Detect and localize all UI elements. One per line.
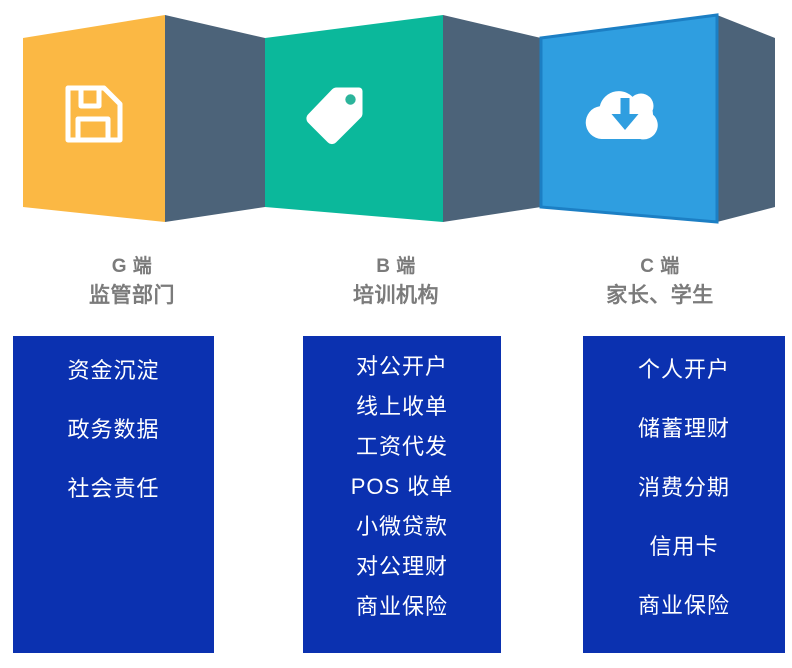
heading-sub-c: 家长、学生 bbox=[528, 281, 792, 311]
service-box-b: 对公开户 线上收单 工资代发 POS 收单 小微贷款 对公理财 商业保险 bbox=[303, 336, 501, 653]
service-item: 社会责任 bbox=[13, 471, 214, 507]
service-item: 资金沉淀 bbox=[13, 353, 214, 389]
heading-main-g: G 端 bbox=[0, 253, 264, 281]
heading-column-c: C 端 家长、学生 bbox=[528, 253, 792, 331]
service-box-g: 资金沉淀 政务数据 社会责任 bbox=[13, 336, 214, 653]
panel-band bbox=[0, 0, 792, 245]
service-item: 消费分期 bbox=[583, 470, 785, 506]
service-item: 小微贷款 bbox=[303, 509, 501, 545]
service-item: 线上收单 bbox=[303, 389, 501, 425]
panel-side-face-b-c bbox=[443, 15, 541, 222]
heading-row: G 端 监管部门 B 端 培训机构 C 端 家长、学生 bbox=[0, 253, 792, 331]
panel-side-face-g-b bbox=[165, 15, 265, 222]
heading-main-b: B 端 bbox=[264, 253, 528, 281]
heading-sub-b: 培训机构 bbox=[264, 281, 528, 311]
service-item: 政务数据 bbox=[13, 412, 214, 448]
service-item: 信用卡 bbox=[583, 529, 785, 565]
service-item: 工资代发 bbox=[303, 429, 501, 465]
service-item: 个人开户 bbox=[583, 352, 785, 388]
service-item: 储蓄理财 bbox=[583, 411, 785, 447]
heading-main-c: C 端 bbox=[528, 253, 792, 281]
panel-side-face-c-right bbox=[717, 15, 775, 222]
service-item: POS 收单 bbox=[303, 469, 501, 505]
service-box-c: 个人开户 储蓄理财 消费分期 信用卡 商业保险 bbox=[583, 336, 785, 653]
heading-sub-g: 监管部门 bbox=[0, 281, 264, 311]
service-item: 对公开户 bbox=[303, 349, 501, 385]
service-item: 商业保险 bbox=[583, 588, 785, 624]
diagram-canvas: G 端 监管部门 B 端 培训机构 C 端 家长、学生 资金沉淀 政务数据 社会… bbox=[0, 0, 792, 668]
service-item: 商业保险 bbox=[303, 589, 501, 625]
heading-column-g: G 端 监管部门 bbox=[0, 253, 264, 331]
heading-column-b: B 端 培训机构 bbox=[264, 253, 528, 331]
service-item: 对公理财 bbox=[303, 549, 501, 585]
